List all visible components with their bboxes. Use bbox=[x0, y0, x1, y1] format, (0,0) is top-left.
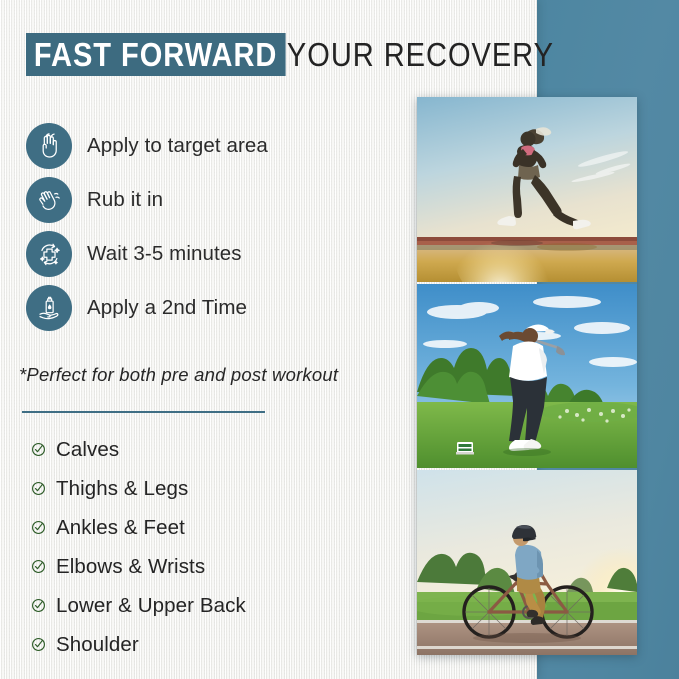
medical-cross-sparkle-icon bbox=[26, 231, 72, 277]
circled-check-icon bbox=[30, 598, 46, 614]
page-title: FAST FORWARD YOUR RECOVERY bbox=[26, 33, 591, 76]
step-item-wait-3-5-minutes: Wait 3-5 minutes bbox=[26, 227, 396, 281]
step-item-rub-it-in: Rub it in bbox=[26, 173, 396, 227]
circled-check-icon bbox=[30, 481, 46, 497]
section-divider bbox=[22, 411, 265, 413]
step-label: Apply to target area bbox=[87, 134, 268, 158]
list-item: Elbows & Wrists bbox=[30, 547, 390, 586]
list-item: Ankles & Feet bbox=[30, 508, 390, 547]
tube-dispense-hand-icon bbox=[26, 285, 72, 331]
step-label: Wait 3-5 minutes bbox=[87, 242, 242, 266]
circled-check-icon bbox=[30, 559, 46, 575]
title-highlight-block: FAST FORWARD bbox=[26, 33, 285, 76]
workout-note: *Perfect for both pre and post workout bbox=[19, 364, 338, 386]
step-label: Rub it in bbox=[87, 188, 163, 212]
rubbing-hands-icon bbox=[26, 177, 72, 223]
list-item-label: Shoulder bbox=[56, 633, 139, 657]
infographic-canvas: FAST FORWARD YOUR RECOVERY Apply to targ… bbox=[0, 0, 679, 679]
step-item-apply-to-target-area: Apply to target area bbox=[26, 119, 396, 173]
circled-check-icon bbox=[30, 637, 46, 653]
list-item-label: Calves bbox=[56, 438, 119, 462]
list-item: Lower & Upper Back bbox=[30, 586, 390, 625]
body-area-checklist: Calves Thighs & Legs Ankles & Feet bbox=[30, 430, 390, 664]
step-label: Apply a 2nd Time bbox=[87, 296, 247, 320]
list-item-label: Elbows & Wrists bbox=[56, 555, 205, 579]
step-item-apply-a-2nd-time: Apply a 2nd Time bbox=[26, 281, 396, 335]
runner-sunrise-photo bbox=[417, 97, 637, 282]
list-item: Calves bbox=[30, 430, 390, 469]
hand-apply-icon bbox=[26, 123, 72, 169]
cyclist-sunset-photo bbox=[417, 470, 637, 655]
list-item: Thighs & Legs bbox=[30, 469, 390, 508]
photo-column bbox=[417, 97, 637, 655]
list-item-label: Thighs & Legs bbox=[56, 477, 188, 501]
circled-check-icon bbox=[30, 442, 46, 458]
list-item: Shoulder bbox=[30, 625, 390, 664]
list-item-label: Ankles & Feet bbox=[56, 516, 185, 540]
golfer-swing-photo bbox=[417, 284, 637, 468]
steps-list: Apply to target area Rub it in bbox=[26, 119, 396, 335]
circled-check-icon bbox=[30, 520, 46, 536]
title-rest-text: YOUR RECOVERY bbox=[279, 33, 554, 76]
list-item-label: Lower & Upper Back bbox=[56, 594, 246, 618]
